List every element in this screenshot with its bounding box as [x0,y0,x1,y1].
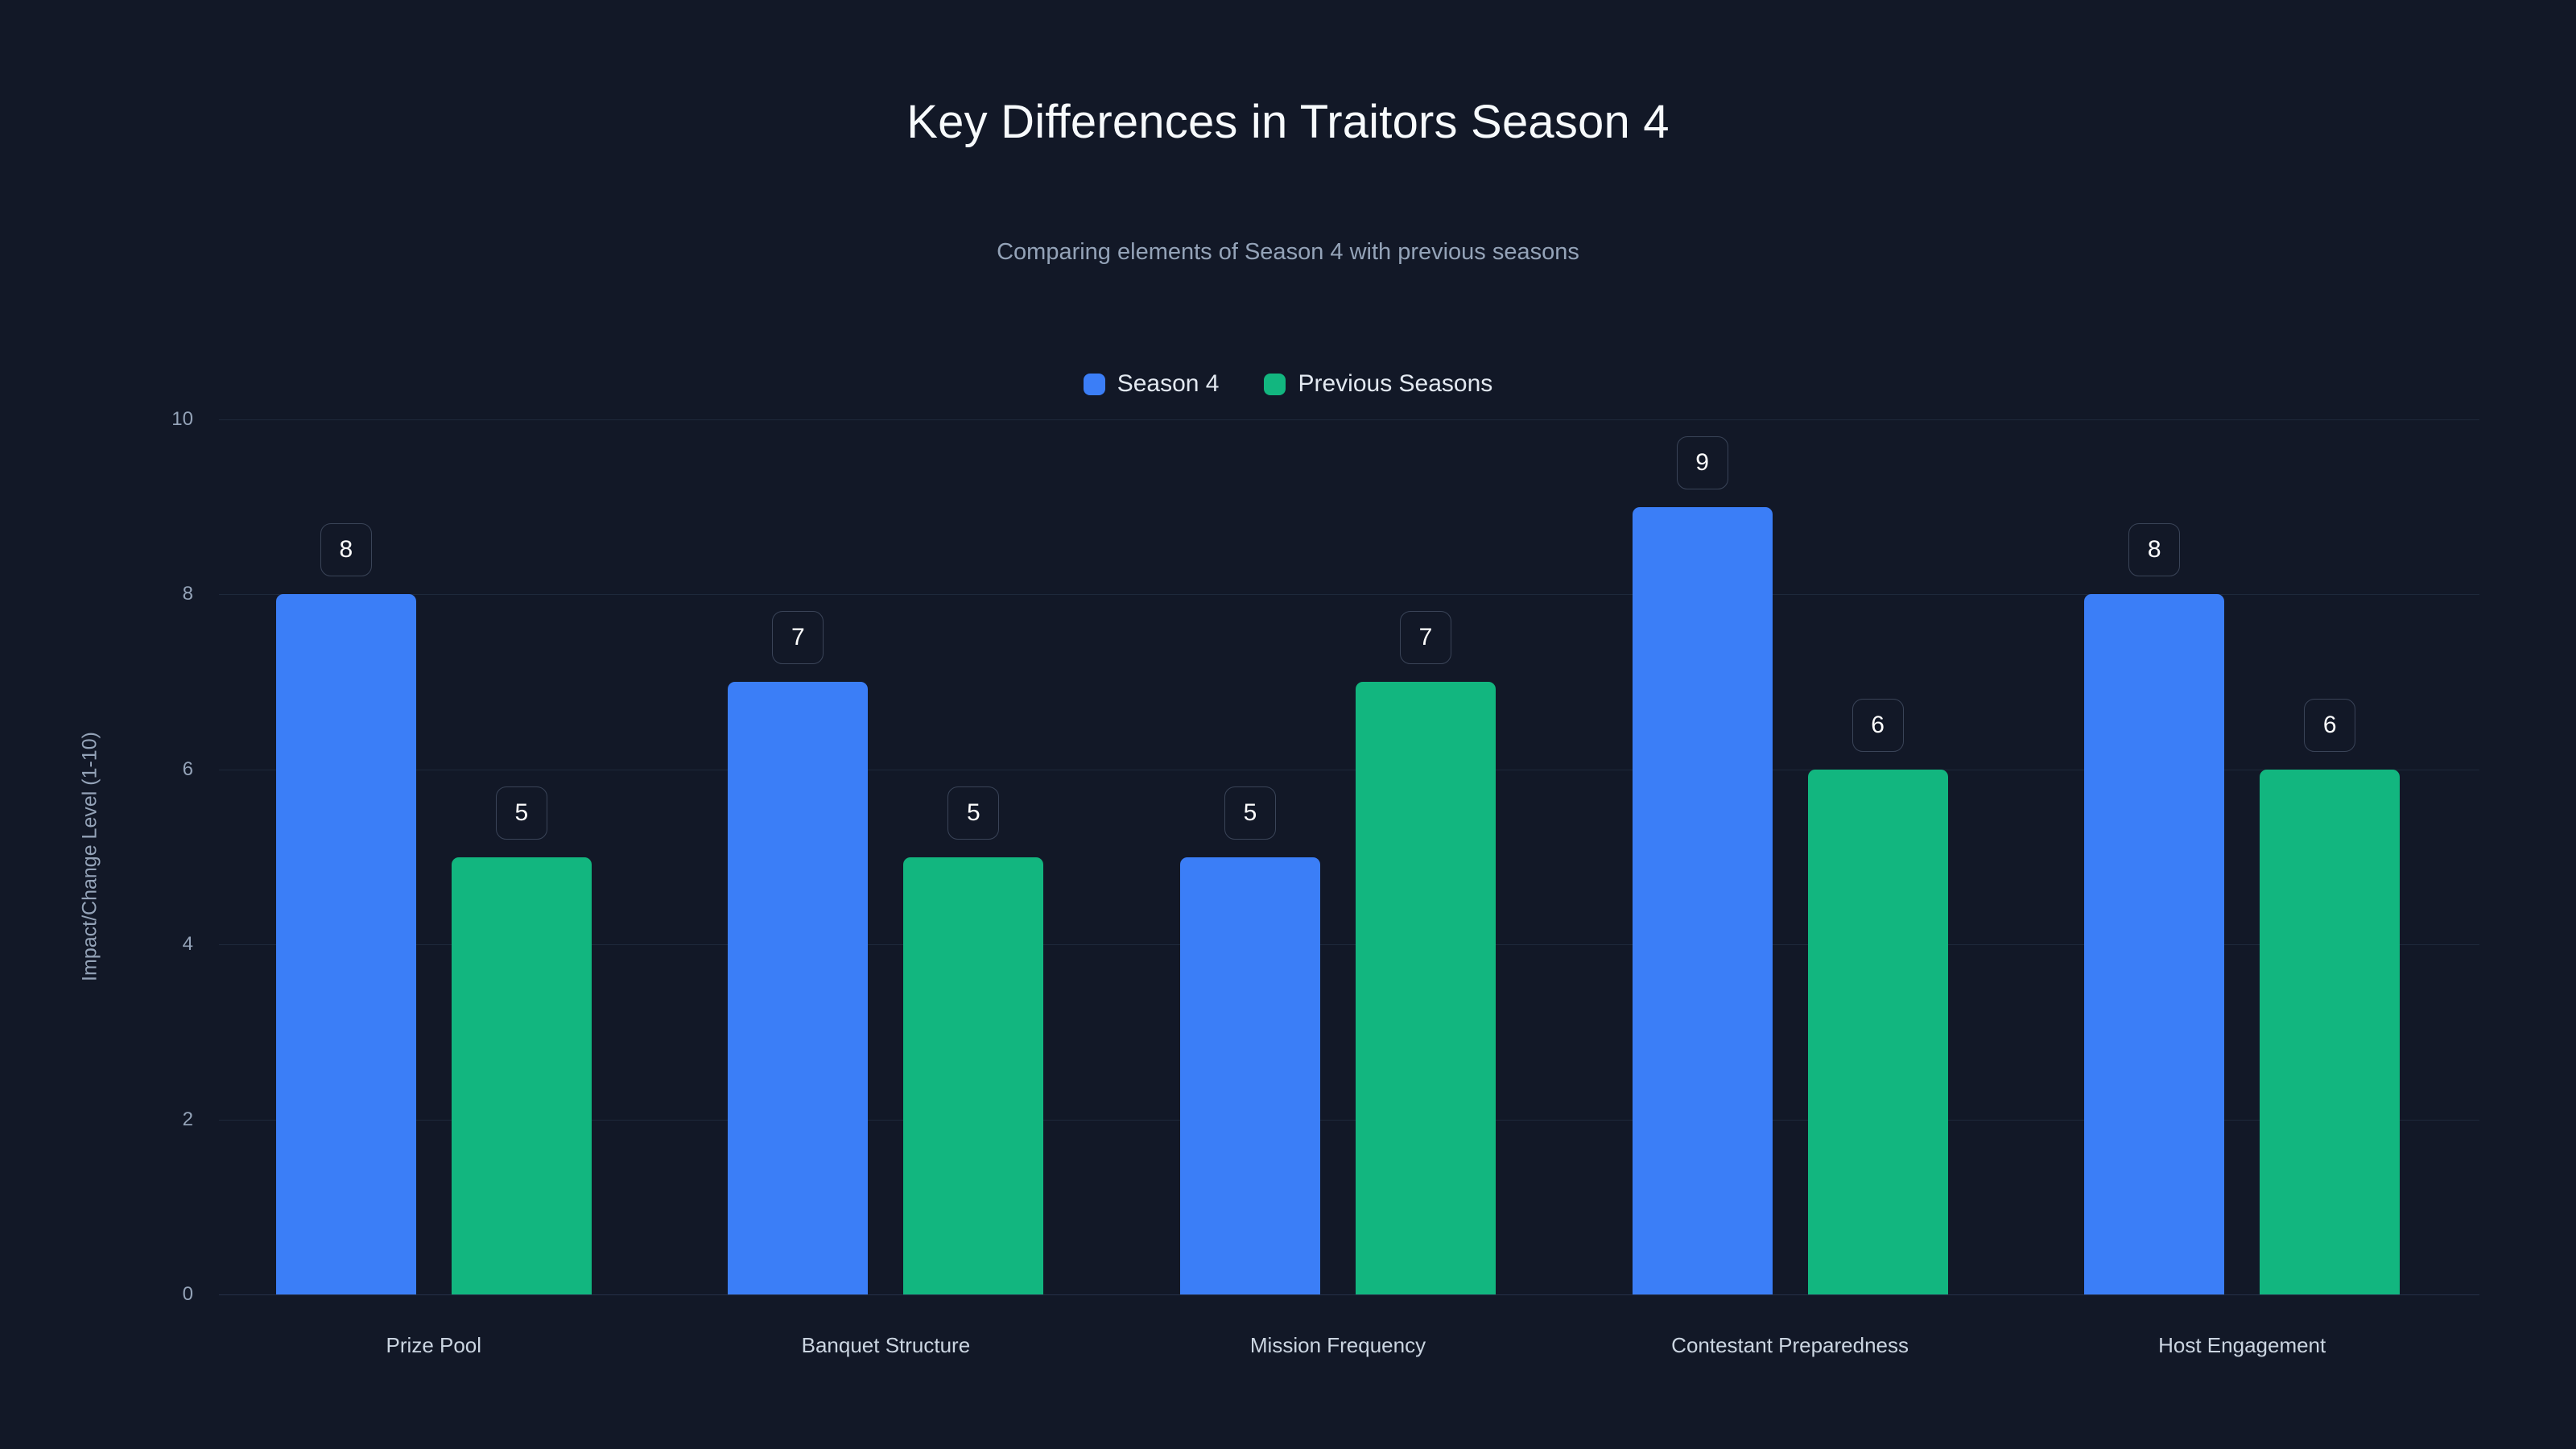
bar[interactable] [1808,770,1948,1294]
y-axis-tick-label: 8 [183,583,193,605]
bar[interactable] [2260,770,2400,1294]
bar-value-label: 5 [947,786,999,840]
legend-item-label: Season 4 [1117,372,1220,396]
bar[interactable] [1356,682,1496,1294]
gridline [219,419,2479,420]
bar-value-label: 8 [320,523,372,576]
bar-value-label: 6 [1852,699,1904,752]
x-axis-labels: Prize PoolBanquet StructureMission Frequ… [219,1333,2479,1381]
bar[interactable] [903,857,1043,1295]
bar-value-label: 9 [1677,436,1728,489]
y-axis-tick-label: 0 [183,1283,193,1306]
legend-item[interactable]: Previous Seasons [1264,372,1492,396]
x-axis-tick-label: Contestant Preparedness [1671,1333,1909,1358]
bar-value-label: 5 [1224,786,1276,840]
chart-subtitle: Comparing elements of Season 4 with prev… [0,239,2576,266]
bar-value-label: 7 [1400,611,1451,664]
x-axis-tick-label: Banquet Structure [802,1333,971,1358]
chart-title: Key Differences in Traitors Season 4 [0,95,2576,149]
x-axis-tick-label: Mission Frequency [1250,1333,1426,1358]
y-axis-tick-label: 6 [183,758,193,781]
bar-value-label: 7 [772,611,824,664]
y-axis-ticks: 0246810 [0,419,219,1294]
bar[interactable] [728,682,868,1294]
legend-item-label: Previous Seasons [1298,372,1492,396]
gridline [219,1294,2479,1295]
x-axis-tick-label: Prize Pool [386,1333,482,1358]
bar[interactable] [276,594,416,1294]
chart-canvas: Key Differences in Traitors Season 4 Com… [0,0,2576,1449]
y-axis-tick-label: 2 [183,1108,193,1131]
bar-value-label: 6 [2304,699,2355,752]
x-axis-tick-label: Host Engagement [2158,1333,2326,1358]
bar-value-label: 8 [2128,523,2180,576]
y-axis-tick-label: 4 [183,933,193,956]
bar[interactable] [1180,857,1320,1295]
bar[interactable] [452,857,592,1295]
chart-legend: Season 4Previous Seasons [0,372,2576,396]
legend-item[interactable]: Season 4 [1084,372,1220,396]
plot-area: 8575579686 [219,419,2479,1294]
square-swatch-icon [1264,374,1286,395]
square-swatch-icon [1084,374,1105,395]
bar[interactable] [2084,594,2224,1294]
bar[interactable] [1633,507,1773,1294]
bar-value-label: 5 [496,786,547,840]
y-axis-tick-label: 10 [171,408,193,431]
